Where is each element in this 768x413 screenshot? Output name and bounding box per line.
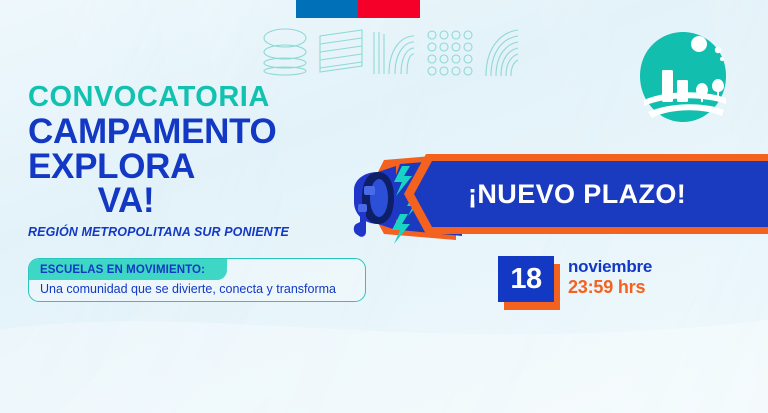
day-number: 18	[510, 263, 541, 296]
day-box: 18	[498, 256, 554, 302]
fan-lines-motif	[486, 30, 518, 76]
title-block: CAMPAMENTO EXPLORA VA!	[28, 115, 358, 218]
hour-label: 23:59 hrs	[568, 277, 652, 298]
flag-blue-half	[296, 0, 358, 18]
deadline-date-block: 18 noviembre 23:59 hrs	[498, 256, 688, 310]
banner-label: ¡NUEVO PLAZO!	[468, 179, 686, 210]
subtitle-pill: ESCUELAS EN MOVIMIENTO: Una comunidad qu…	[28, 258, 366, 302]
poster-canvas: CONVOCATORIA CAMPAMENTO EXPLORA VA! REGI…	[0, 0, 768, 413]
chile-flag-bar	[296, 0, 420, 18]
explora-landscape-badge	[626, 28, 740, 128]
region-label: REGIÓN METROPOLITANA SUR PONIENTE	[28, 225, 358, 239]
pill-tag: ESCUELAS EN MOVIMIENTO:	[29, 259, 227, 280]
banner-blue-layer: ¡NUEVO PLAZO!	[414, 161, 768, 227]
eyebrow-convocatoria: CONVOCATORIA	[28, 82, 358, 112]
title-line-2: EXPLORA	[28, 147, 195, 186]
nested-arcs-motif	[374, 32, 414, 74]
footer-logo-strip: AÑOS EXPLORA DIVISIÓN CIENCIA Y SOCIEDAD	[0, 348, 768, 413]
nuevo-plazo-banner: ¡NUEVO PLAZO!	[404, 150, 768, 242]
title-line-3: VA!	[28, 184, 224, 218]
title-line-1: CAMPAMENTO	[28, 112, 276, 151]
date-text-block: noviembre 23:59 hrs	[568, 258, 652, 297]
headline-block: CONVOCATORIA CAMPAMENTO EXPLORA VA! REGI…	[28, 82, 358, 239]
month-label: noviembre	[568, 258, 652, 277]
pill-body-text: Una comunidad que se divierte, conecta y…	[40, 282, 336, 296]
dot-grid-motif	[428, 31, 472, 75]
flag-red-half	[358, 0, 420, 18]
stacked-ellipses-motif	[264, 29, 306, 75]
decorative-motifs	[262, 26, 520, 78]
pill-tag-label: ESCUELAS EN MOVIMIENTO:	[40, 264, 205, 276]
slanted-grid-motif	[320, 30, 362, 72]
